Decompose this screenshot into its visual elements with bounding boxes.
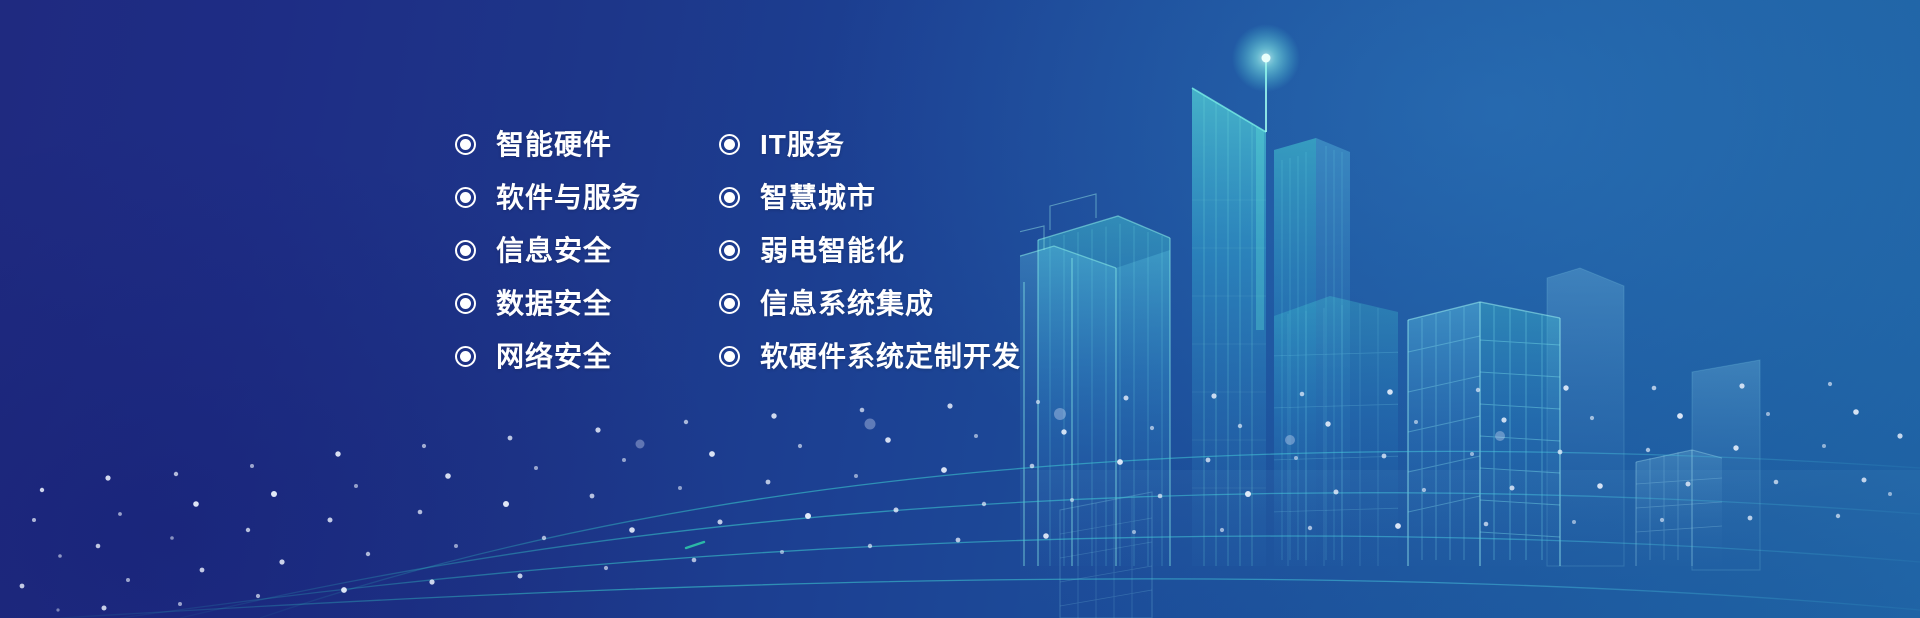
list-item-label: 数据安全 — [496, 290, 612, 318]
list-item[interactable]: 信息安全 — [455, 224, 641, 277]
ring-dot-icon — [455, 240, 476, 261]
list-item-label: IT服务 — [760, 131, 845, 159]
city-skyline-illustration — [1020, 0, 1920, 618]
ring-dot-icon — [455, 346, 476, 367]
list-item-label: 网络安全 — [496, 343, 612, 371]
service-category-lists: 智能硬件 软件与服务 信息安全 数据安全 网络安全 IT服务 — [455, 118, 1021, 383]
ring-dot-icon — [719, 240, 740, 261]
right-column: IT服务 智慧城市 弱电智能化 信息系统集成 软硬件系统定制开发 — [719, 118, 1021, 383]
service-categories-banner: 智能硬件 软件与服务 信息安全 数据安全 网络安全 IT服务 — [0, 0, 1920, 618]
list-item-label: 软硬件系统定制开发 — [760, 343, 1021, 371]
ring-dot-icon — [719, 187, 740, 208]
list-item[interactable]: IT服务 — [719, 118, 1021, 171]
list-item-label: 弱电智能化 — [760, 237, 905, 265]
list-item-label: 信息系统集成 — [760, 290, 934, 318]
ring-dot-icon — [719, 134, 740, 155]
list-item-label: 信息安全 — [496, 237, 612, 265]
list-item[interactable]: 数据安全 — [455, 277, 641, 330]
list-item[interactable]: 信息系统集成 — [719, 277, 1021, 330]
ring-dot-icon — [455, 293, 476, 314]
list-item[interactable]: 软件与服务 — [455, 171, 641, 224]
list-item[interactable]: 智慧城市 — [719, 171, 1021, 224]
list-item[interactable]: 智能硬件 — [455, 118, 641, 171]
list-item[interactable]: 弱电智能化 — [719, 224, 1021, 277]
list-item[interactable]: 软硬件系统定制开发 — [719, 330, 1021, 383]
list-item[interactable]: 网络安全 — [455, 330, 641, 383]
ring-dot-icon — [719, 293, 740, 314]
ring-dot-icon — [455, 134, 476, 155]
left-column: 智能硬件 软件与服务 信息安全 数据安全 网络安全 — [455, 118, 641, 383]
ring-dot-icon — [719, 346, 740, 367]
ring-dot-icon — [455, 187, 476, 208]
list-item-label: 智能硬件 — [496, 131, 612, 159]
list-item-label: 智慧城市 — [760, 184, 876, 212]
list-item-label: 软件与服务 — [496, 184, 641, 212]
